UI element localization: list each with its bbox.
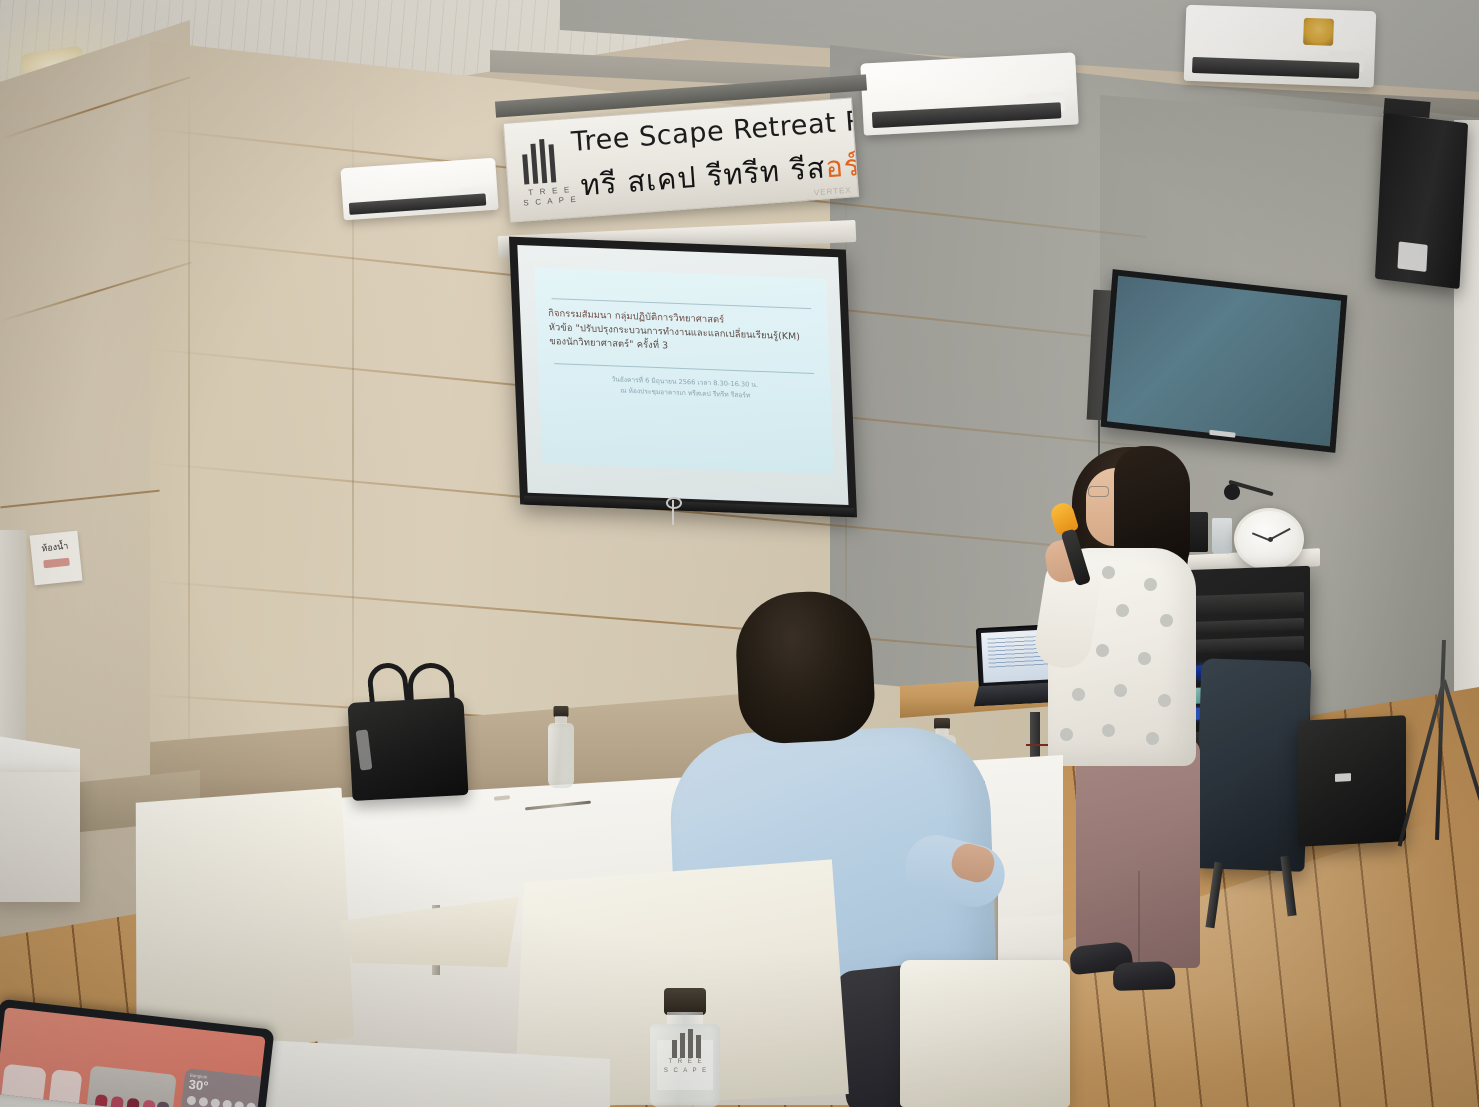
treescape-logo-icon: T R E E S C A P E [517,135,580,209]
subwoofer-logo [1335,774,1351,783]
conference-room-photo: ห้องน้ำ T R E E S C A P E [0,0,1479,1107]
restroom-sign-label: ห้องน้ำ [30,538,79,557]
bottle-cap [664,988,706,1015]
bottle-logo-line2: S C A P E [660,1067,712,1076]
bottle-logo-bars-icon [660,1028,712,1058]
tripod-leg [1442,679,1479,843]
ac-energy-label-icon [1303,18,1334,46]
restroom-sign: ห้องน้ำ [30,531,83,586]
black-office-chair [1194,658,1311,872]
wall-clock [1234,508,1304,570]
banquet-chair [900,960,1070,1107]
ac-vent [871,102,1061,128]
clock-hour-hand [1252,532,1269,541]
speaker-badge [1398,242,1428,272]
microphone-boom-head-icon [1224,484,1240,500]
projection-screen: กิจกรรมสัมมนา กลุ่มปฏิบัติการวิทยาศาสตร์… [509,237,857,518]
ac-vent [349,194,486,215]
drinking-glass [1212,518,1232,554]
wall-mounted-tv [1101,269,1348,453]
wall-speaker [1375,113,1468,289]
screen-pull-ring-icon [666,497,682,509]
slide-divider-top [552,298,812,309]
tablet-photo-widget[interactable] [85,1065,177,1107]
tripod-leg [1435,640,1446,840]
av-slot[interactable] [1188,592,1304,616]
screen-pull-cord [672,500,674,525]
tablet-weather-widget[interactable]: Bangkok 30° [179,1068,266,1107]
logo-text: T R E E S C A P E [521,185,580,209]
tv-brand-logo [1209,430,1235,438]
slide-divider-bottom [554,363,814,374]
wall-panel-line [188,78,190,808]
restroom-arrow-icon [43,558,70,569]
av-slot[interactable] [1188,636,1304,654]
presenter-shoe-right [1113,961,1176,991]
bottle-brand-logo: T R E E S C A P E [660,1028,712,1082]
subwoofer [1298,715,1406,847]
venue-name-thai-accent: อร์ท [824,146,859,184]
air-conditioner-center [860,52,1078,135]
screen-surface: กิจกรรมสัมมนา กลุ่มปฏิบัติการวิทยาศาสตร์… [517,245,848,505]
bottle-body [548,723,574,788]
side-table-skirt [0,772,80,902]
clock-center-pin [1268,537,1273,542]
signboard-maker-mark: VERTEX [814,186,852,198]
speaker-tripod-stand [1408,640,1479,850]
presentation-slide: กิจกรรมสัมมนา กลุ่มปฏิบัติการวิทยาศาสตร์… [534,268,834,475]
air-conditioner-right [1184,5,1377,88]
presenter-trousers [1076,738,1200,968]
bottle-logo-line1: T R E E [660,1058,712,1067]
attendee-head [733,589,877,746]
air-conditioner-left [340,158,498,221]
av-slot[interactable] [1188,618,1304,634]
logo-bars-icon [521,136,556,184]
water-bottle [548,706,574,788]
